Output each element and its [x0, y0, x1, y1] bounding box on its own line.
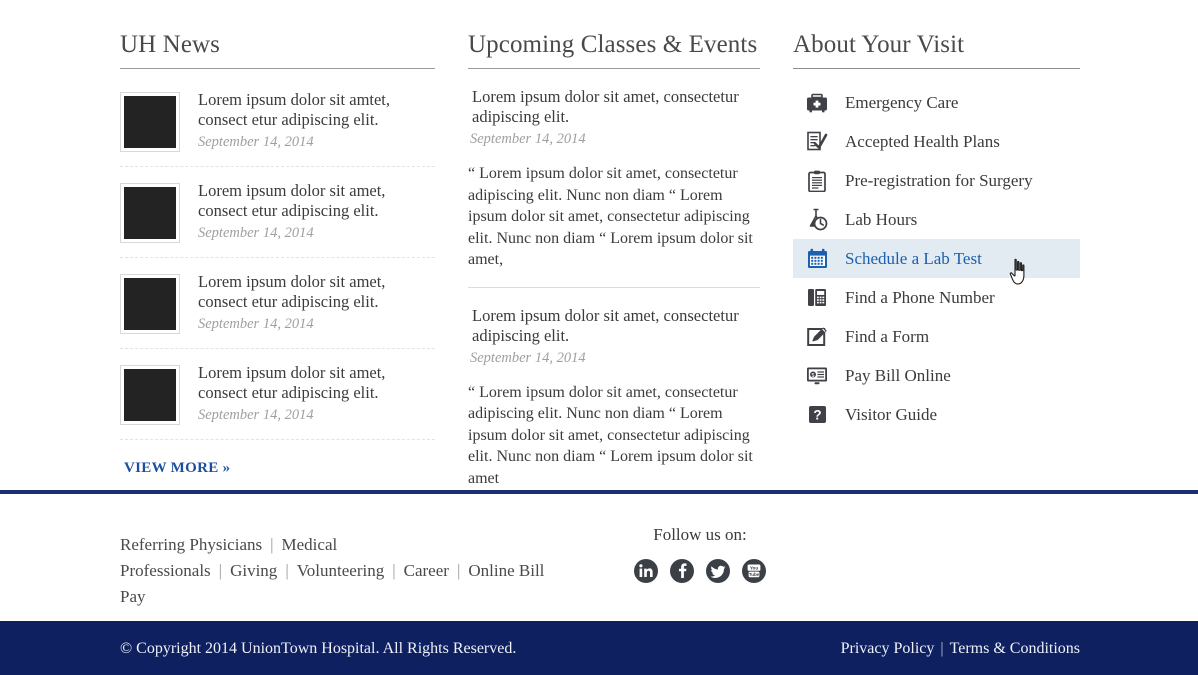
news-item[interactable]: Lorem ipsum dolor sit amet, consect etur… [120, 167, 435, 258]
visit-item-find-a-form[interactable]: Find a Form [793, 317, 1080, 356]
visit-item-label: Find a Phone Number [845, 287, 995, 309]
event-item-description: “ Lorem ipsum dolor sit amet, consectetu… [468, 163, 760, 271]
footer-link-separator: | [211, 561, 230, 580]
document-check-icon [805, 130, 829, 154]
column-about-your-visit: About Your Visit Emergency Care Accepted… [793, 30, 1080, 434]
news-thumbnail [120, 92, 180, 152]
visit-column-title: About Your Visit [793, 30, 1080, 68]
news-item-text: Lorem ipsum dolor sit amet, consect etur… [198, 363, 435, 403]
news-thumbnail [120, 365, 180, 425]
visit-links-list: Emergency Care Accepted Health Plans Pre… [793, 83, 1080, 434]
news-title-rule [120, 68, 435, 69]
news-item[interactable]: Lorem ipsum dolor sit amet, consect etur… [120, 258, 435, 349]
visit-item-label: Visitor Guide [845, 404, 937, 426]
content-columns: UH News Lorem ipsum dolor sit amtet, con… [0, 0, 1198, 490]
footer: Referring Physicians|Medical Professiona… [0, 494, 1198, 621]
follow-us-block: Follow us on: You Tube [620, 524, 780, 583]
desk-phone-icon [805, 286, 829, 310]
footer-link-volunteering[interactable]: Volunteering [297, 561, 385, 580]
footer-link-career[interactable]: Career [404, 561, 449, 580]
news-item-text: Lorem ipsum dolor sit amet, consect etur… [198, 181, 435, 221]
question-mark-icon: ? [805, 403, 829, 427]
footer-link-separator: | [262, 535, 281, 554]
visit-item-emergency-care[interactable]: Emergency Care [793, 83, 1080, 122]
medical-bag-icon [805, 91, 829, 115]
svg-text:Tube: Tube [749, 572, 760, 577]
twitter-icon[interactable] [706, 559, 730, 583]
copyright-link-terms-conditions[interactable]: Terms & Conditions [950, 640, 1080, 657]
follow-us-label: Follow us on: [620, 524, 780, 546]
svg-text:You: You [750, 566, 759, 571]
visit-item-label: Emergency Care [845, 92, 958, 114]
bill-payment-icon: $ [805, 364, 829, 388]
news-item-date: September 14, 2014 [198, 133, 435, 151]
svg-text:$: $ [812, 373, 815, 379]
column-upcoming-events: Upcoming Classes & Events Lorem ipsum do… [468, 30, 760, 542]
visit-item-label: Pay Bill Online [845, 365, 951, 387]
clipboard-icon [805, 169, 829, 193]
news-item-date: September 14, 2014 [198, 315, 435, 333]
visit-item-pre-registration-for-surgery[interactable]: Pre-registration for Surgery [793, 161, 1080, 200]
visit-item-visitor-guide[interactable]: ? Visitor Guide [793, 395, 1080, 434]
events-title-rule [468, 68, 760, 69]
news-item[interactable]: Lorem ipsum dolor sit amtet, consect etu… [120, 87, 435, 167]
news-column-title: UH News [120, 30, 435, 68]
event-item-title: Lorem ipsum dolor sit amet, consectetur … [468, 87, 760, 127]
news-item-body: Lorem ipsum dolor sit amet, consect etur… [198, 181, 435, 242]
news-thumbnail [120, 274, 180, 334]
visit-item-lab-hours[interactable]: Lab Hours [793, 200, 1080, 239]
visit-item-accepted-health-plans[interactable]: Accepted Health Plans [793, 122, 1080, 161]
footer-link-separator: | [384, 561, 403, 580]
visit-title-rule [793, 68, 1080, 69]
visit-item-label: Lab Hours [845, 209, 917, 231]
news-item-body: Lorem ipsum dolor sit amet, consect etur… [198, 363, 435, 424]
events-list: Lorem ipsum dolor sit amet, consectetur … [468, 87, 760, 506]
page-root: UH News Lorem ipsum dolor sit amtet, con… [0, 0, 1198, 675]
visit-item-schedule-a-lab-test[interactable]: Schedule a Lab Test [793, 239, 1080, 278]
event-item[interactable]: Lorem ipsum dolor sit amet, consectetur … [468, 288, 760, 507]
news-item-text: Lorem ipsum dolor sit amet, consect etur… [198, 272, 435, 312]
footer-link-giving[interactable]: Giving [230, 561, 277, 580]
linkedin-icon[interactable] [634, 559, 658, 583]
facebook-icon[interactable] [670, 559, 694, 583]
copyright-text: © Copyright 2014 UnionTown Hospital. All… [120, 639, 516, 659]
news-list: Lorem ipsum dolor sit amtet, consect etu… [120, 87, 435, 440]
visit-item-label: Pre-registration for Surgery [845, 170, 1033, 192]
copyright-bar: © Copyright 2014 UnionTown Hospital. All… [0, 621, 1198, 675]
social-icons-row: You Tube [620, 559, 780, 583]
flask-clock-icon [805, 208, 829, 232]
footer-links: Referring Physicians|Medical Professiona… [120, 532, 550, 610]
calendar-icon [805, 247, 829, 271]
pencil-form-icon [805, 325, 829, 349]
copyright-link-separator: | [934, 640, 949, 657]
footer-link-referring-physicians[interactable]: Referring Physicians [120, 535, 262, 554]
news-item-body: Lorem ipsum dolor sit amtet, consect etu… [198, 90, 435, 151]
event-item-description: “ Lorem ipsum dolor sit amet, consectetu… [468, 382, 760, 490]
news-item-date: September 14, 2014 [198, 406, 435, 424]
news-thumbnail [120, 183, 180, 243]
news-item-text: Lorem ipsum dolor sit amtet, consect etu… [198, 90, 435, 130]
event-item-date: September 14, 2014 [468, 349, 760, 367]
visit-item-label: Find a Form [845, 326, 929, 348]
column-uh-news: UH News Lorem ipsum dolor sit amtet, con… [120, 30, 435, 477]
youtube-icon[interactable]: You Tube [742, 559, 766, 583]
event-item-title: Lorem ipsum dolor sit amet, consectetur … [468, 306, 760, 346]
visit-item-pay-bill-online[interactable]: $ Pay Bill Online [793, 356, 1080, 395]
event-item[interactable]: Lorem ipsum dolor sit amet, consectetur … [468, 87, 760, 288]
news-view-more-link[interactable]: VIEW MORE » [124, 460, 230, 477]
news-item-date: September 14, 2014 [198, 224, 435, 242]
visit-item-label: Accepted Health Plans [845, 131, 1000, 153]
footer-link-separator: | [449, 561, 468, 580]
event-item-date: September 14, 2014 [468, 130, 760, 148]
copyright-link-privacy-policy[interactable]: Privacy Policy [841, 640, 935, 657]
copyright-links: Privacy Policy|Terms & Conditions [841, 639, 1080, 659]
news-item[interactable]: Lorem ipsum dolor sit amet, consect etur… [120, 349, 435, 440]
visit-item-find-a-phone-number[interactable]: Find a Phone Number [793, 278, 1080, 317]
events-column-title: Upcoming Classes & Events [468, 30, 760, 68]
svg-text:?: ? [813, 407, 821, 422]
visit-item-label: Schedule a Lab Test [845, 248, 982, 270]
news-item-body: Lorem ipsum dolor sit amet, consect etur… [198, 272, 435, 333]
footer-link-separator: | [277, 561, 296, 580]
